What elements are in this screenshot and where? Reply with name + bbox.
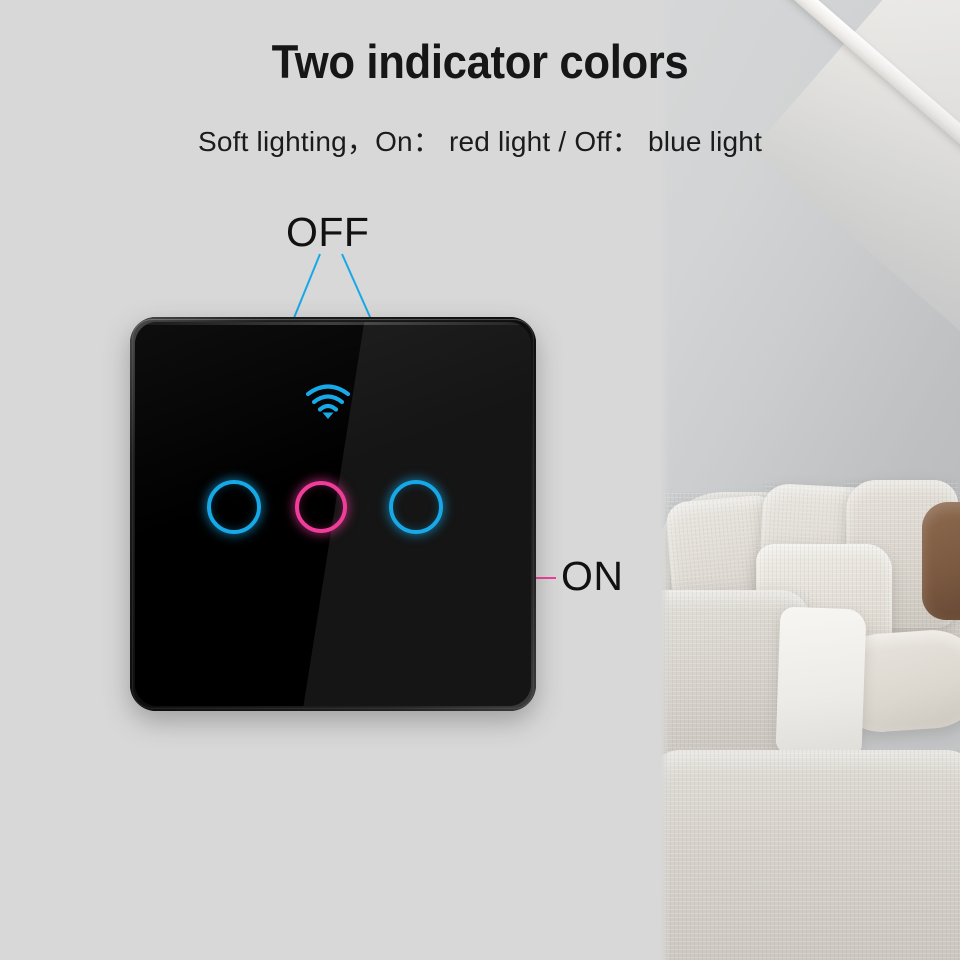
label-on: ON — [561, 553, 624, 600]
switch-button-center[interactable] — [295, 481, 347, 533]
wifi-icon — [305, 384, 351, 420]
switch-button-left[interactable] — [207, 480, 261, 534]
switch-button-right[interactable] — [389, 480, 443, 534]
product-feature-banner: Two indicator colors Soft lighting，On： r… — [0, 0, 960, 960]
label-off: OFF — [286, 209, 369, 256]
